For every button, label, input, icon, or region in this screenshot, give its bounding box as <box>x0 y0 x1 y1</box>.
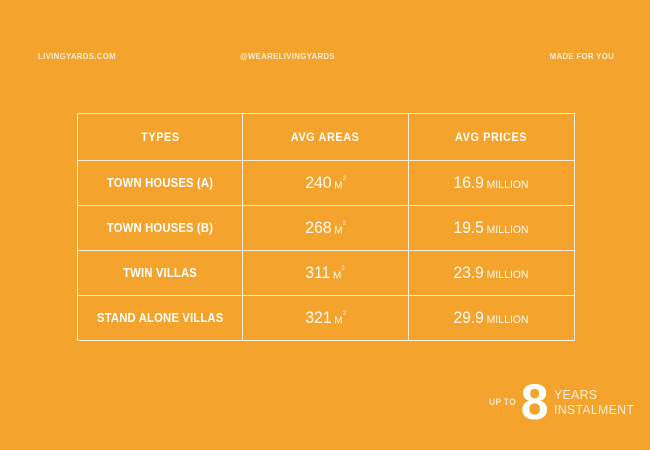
badge-prefix-label: UP TO <box>489 397 516 407</box>
cell-price: 23.9 MILLION <box>409 251 573 295</box>
tagline-slot: MADE FOR YOU <box>430 51 650 61</box>
area-unit: M2 <box>334 179 346 192</box>
badge-line-instalment: INSTALMENT <box>554 402 634 417</box>
area-value-group: 311 M2 <box>306 263 346 283</box>
table-header-row: TYPES AVG AREAS AVG PRICES <box>78 114 574 161</box>
website-slot: LIVINGYARDS.COM <box>0 51 240 61</box>
cell-type: TWIN VILLAS <box>78 251 243 295</box>
area-unit: M2 <box>334 224 346 237</box>
area-value-group: 321 M2 <box>305 308 346 328</box>
price-value-group: 16.9 MILLION <box>453 173 528 193</box>
price-suffix: MILLION <box>487 269 529 281</box>
table-row: STAND ALONE VILLAS 321 M2 29.9 MILLION <box>78 296 574 340</box>
instalment-badge: UP TO 8 YEARS INSTALMENT <box>488 376 638 428</box>
cell-type: TOWN HOUSES (B) <box>78 206 243 250</box>
price-value-group: 19.5 MILLION <box>453 218 528 238</box>
cell-area: 321 M2 <box>243 296 409 340</box>
type-label: TWIN VILLAS <box>123 266 197 280</box>
cell-area: 240 M2 <box>243 161 409 205</box>
price-suffix: MILLION <box>487 224 529 236</box>
cell-price: 19.5 MILLION <box>409 206 573 250</box>
area-number: 268 <box>305 218 331 238</box>
website-label: LIVINGYARDS.COM <box>38 51 116 61</box>
badge-text-lines: YEARS INSTALMENT <box>554 387 638 418</box>
price-suffix: MILLION <box>487 179 529 191</box>
table-row: TWIN VILLAS 311 M2 23.9 MILLION <box>78 251 574 296</box>
type-label: STAND ALONE VILLAS <box>97 311 223 325</box>
type-label: TOWN HOUSES (B) <box>107 221 213 235</box>
table-header-avg-prices: AVG PRICES <box>409 114 573 160</box>
badge-line-years: YEARS <box>554 387 634 402</box>
pricing-table: TYPES AVG AREAS AVG PRICES TOWN HOUSES (… <box>77 113 575 341</box>
cell-type: TOWN HOUSES (A) <box>78 161 243 205</box>
table-row: TOWN HOUSES (A) 240 M2 16.9 MILLION <box>78 161 574 206</box>
badge-years-number: 8 <box>521 381 548 424</box>
table-header-types: TYPES <box>78 114 243 160</box>
price-value-group: 29.9 MILLION <box>453 308 528 328</box>
area-unit: M2 <box>333 269 345 282</box>
table-header-avg-areas: AVG AREAS <box>243 114 409 160</box>
price-number: 29.9 <box>453 308 483 328</box>
top-meta-bar: LIVINGYARDS.COM @WEARELIVINGYARDS MADE F… <box>0 47 650 65</box>
tagline-label: MADE FOR YOU <box>549 51 614 61</box>
price-number: 23.9 <box>453 263 483 283</box>
cell-price: 29.9 MILLION <box>409 296 573 340</box>
social-handle-label: @WEARELIVINGYARDS <box>240 51 335 61</box>
price-number: 16.9 <box>453 173 483 193</box>
social-handle-slot: @WEARELIVINGYARDS <box>240 51 430 61</box>
price-suffix: MILLION <box>487 314 529 326</box>
cell-type: STAND ALONE VILLAS <box>78 296 243 340</box>
area-number: 240 <box>305 173 331 193</box>
type-label: TOWN HOUSES (A) <box>107 176 213 190</box>
cell-area: 268 M2 <box>243 206 409 250</box>
table-row: TOWN HOUSES (B) 268 M2 19.5 MILLION <box>78 206 574 251</box>
price-value-group: 23.9 MILLION <box>453 263 528 283</box>
area-number: 321 <box>305 308 331 328</box>
poster-canvas: LIVINGYARDS.COM @WEARELIVINGYARDS MADE F… <box>0 0 650 450</box>
cell-price: 16.9 MILLION <box>409 161 573 205</box>
area-unit: M2 <box>334 314 346 327</box>
price-number: 19.5 <box>453 218 483 238</box>
area-number: 311 <box>306 263 331 283</box>
area-value-group: 240 M2 <box>305 173 346 193</box>
area-value-group: 268 M2 <box>305 218 346 238</box>
cell-area: 311 M2 <box>243 251 409 295</box>
